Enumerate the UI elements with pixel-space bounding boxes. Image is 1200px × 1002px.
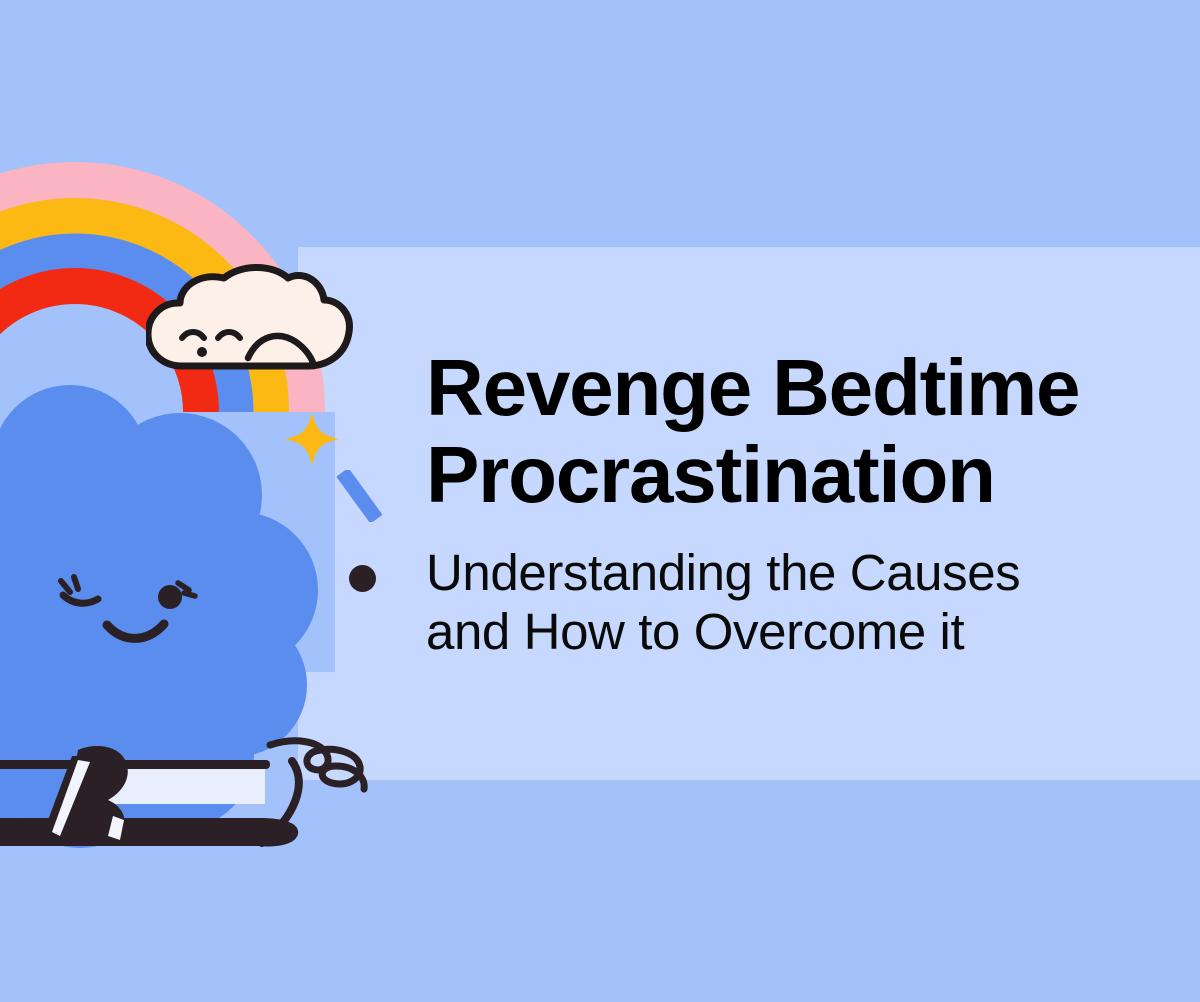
character-open-eye	[158, 585, 182, 609]
text-block: Revenge Bedtime Procrastination Understa…	[426, 344, 1146, 661]
character-feet	[0, 740, 310, 870]
diagonal-dash-icon	[333, 470, 385, 522]
round-dot-icon	[349, 565, 376, 592]
page-title: Revenge Bedtime Procrastination	[426, 344, 1146, 518]
sleeping-cloud-icon	[146, 262, 356, 394]
poster-canvas: Revenge Bedtime Procrastination Understa…	[0, 0, 1200, 1002]
sparkle-star-icon	[285, 412, 339, 466]
page-subtitle: Understanding the Causes and How to Over…	[426, 544, 1146, 660]
